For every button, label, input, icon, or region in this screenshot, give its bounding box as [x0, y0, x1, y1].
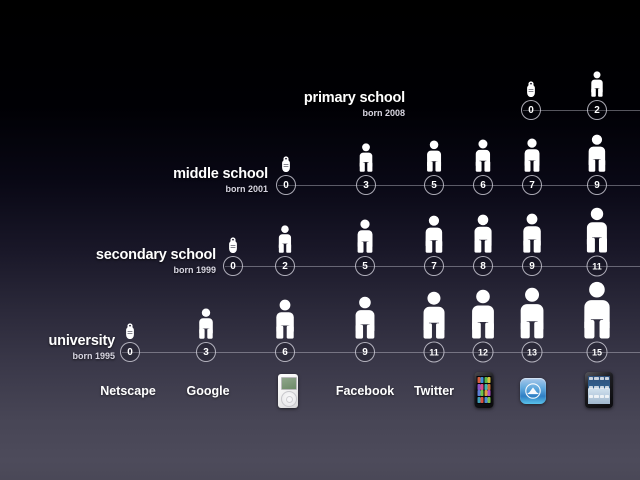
person-icon [277, 225, 293, 253]
age-value: 6 [480, 180, 486, 191]
generation-birth-year: born 1999 [96, 265, 216, 274]
baby-icon [526, 81, 537, 97]
age-node[interactable]: 8 [473, 256, 493, 276]
age-value: 7 [529, 180, 535, 191]
person-icon [523, 138, 542, 172]
person-icon [584, 207, 610, 253]
age-value: 5 [362, 261, 368, 272]
age-value: 13 [527, 347, 537, 357]
age-value: 0 [230, 261, 236, 272]
product-label-netscape[interactable]: Netscape [100, 384, 156, 398]
age-value: 0 [127, 347, 133, 358]
person-icon [358, 143, 374, 172]
age-node[interactable]: 9 [355, 342, 375, 362]
person-icon [581, 281, 614, 339]
person-icon [274, 299, 296, 339]
age-node[interactable]: 5 [424, 175, 444, 195]
age-node[interactable]: 9 [522, 256, 542, 276]
person-icon [517, 287, 546, 339]
person-icon [356, 219, 375, 253]
age-node[interactable]: 0 [276, 175, 296, 195]
age-value: 7 [431, 261, 437, 272]
age-value: 3 [203, 347, 209, 358]
generation-birth-year: born 1995 [49, 351, 116, 360]
age-value: 9 [362, 347, 368, 358]
person-icon [586, 134, 607, 172]
age-value: 3 [363, 180, 369, 191]
baby-icon [228, 237, 239, 253]
age-value: 11 [592, 261, 602, 271]
iphone-icon[interactable] [475, 372, 494, 408]
age-node[interactable]: 5 [355, 256, 375, 276]
person-icon [474, 139, 493, 172]
age-node[interactable]: 13 [522, 342, 543, 363]
person-icon [469, 289, 497, 339]
age-node[interactable]: 0 [120, 342, 140, 362]
age-value: 6 [282, 347, 288, 358]
generation-label-primary-school: primary schoolborn 2008 [304, 91, 405, 118]
person-icon [590, 71, 605, 97]
baby-icon [281, 156, 292, 172]
person-icon [521, 213, 543, 253]
generation-name: primary school [304, 91, 405, 106]
generation-name: university [49, 334, 116, 349]
age-node[interactable]: 6 [275, 342, 295, 362]
age-value: 12 [478, 347, 488, 357]
age-node[interactable]: 2 [587, 100, 607, 120]
age-value: 8 [480, 261, 486, 272]
product-label-facebook[interactable]: Facebook [336, 384, 394, 398]
age-node[interactable]: 6 [473, 175, 493, 195]
person-icon [421, 291, 448, 339]
age-value: 0 [283, 180, 289, 191]
person-icon [353, 296, 377, 339]
baby-icon [125, 323, 136, 339]
age-value: 2 [594, 105, 600, 116]
generation-name: middle school [173, 167, 268, 182]
age-value: 11 [429, 347, 439, 357]
age-value: 5 [431, 180, 437, 191]
age-value: 0 [528, 105, 534, 116]
generation-birth-year: born 2008 [304, 108, 405, 117]
age-node[interactable]: 7 [424, 256, 444, 276]
age-value: 2 [282, 261, 288, 272]
age-node[interactable]: 3 [356, 175, 376, 195]
ipod-icon[interactable] [278, 374, 298, 408]
age-value: 9 [529, 261, 535, 272]
timeline-axis-middle-school [278, 185, 640, 186]
age-node[interactable]: 2 [275, 256, 295, 276]
product-label-google[interactable]: Google [186, 384, 229, 398]
person-icon [197, 308, 214, 339]
age-node[interactable]: 0 [223, 256, 243, 276]
age-node[interactable]: 7 [522, 175, 542, 195]
product-label-twitter[interactable]: Twitter [414, 384, 454, 398]
generation-label-university: universityborn 1995 [49, 334, 116, 361]
age-node[interactable]: 11 [587, 256, 608, 277]
age-node[interactable]: 12 [473, 342, 494, 363]
age-node[interactable]: 9 [587, 175, 607, 195]
generation-label-secondary-school: secondary schoolborn 1999 [96, 248, 216, 275]
age-node[interactable]: 11 [424, 342, 445, 363]
person-icon [425, 140, 443, 172]
app-store-icon[interactable] [520, 378, 546, 404]
age-node[interactable]: 0 [521, 100, 541, 120]
ipad-icon[interactable] [585, 372, 613, 408]
age-node[interactable]: 15 [587, 342, 608, 363]
person-icon [472, 214, 494, 253]
generation-birth-year: born 2001 [173, 184, 268, 193]
person-icon [423, 215, 444, 253]
generation-name: secondary school [96, 248, 216, 263]
age-node[interactable]: 3 [196, 342, 216, 362]
generation-label-middle-school: middle schoolborn 2001 [173, 167, 268, 194]
age-value: 15 [592, 347, 602, 357]
presentation-slide: primary schoolborn 20080 2 middle school… [0, 0, 640, 480]
age-value: 9 [594, 180, 600, 191]
